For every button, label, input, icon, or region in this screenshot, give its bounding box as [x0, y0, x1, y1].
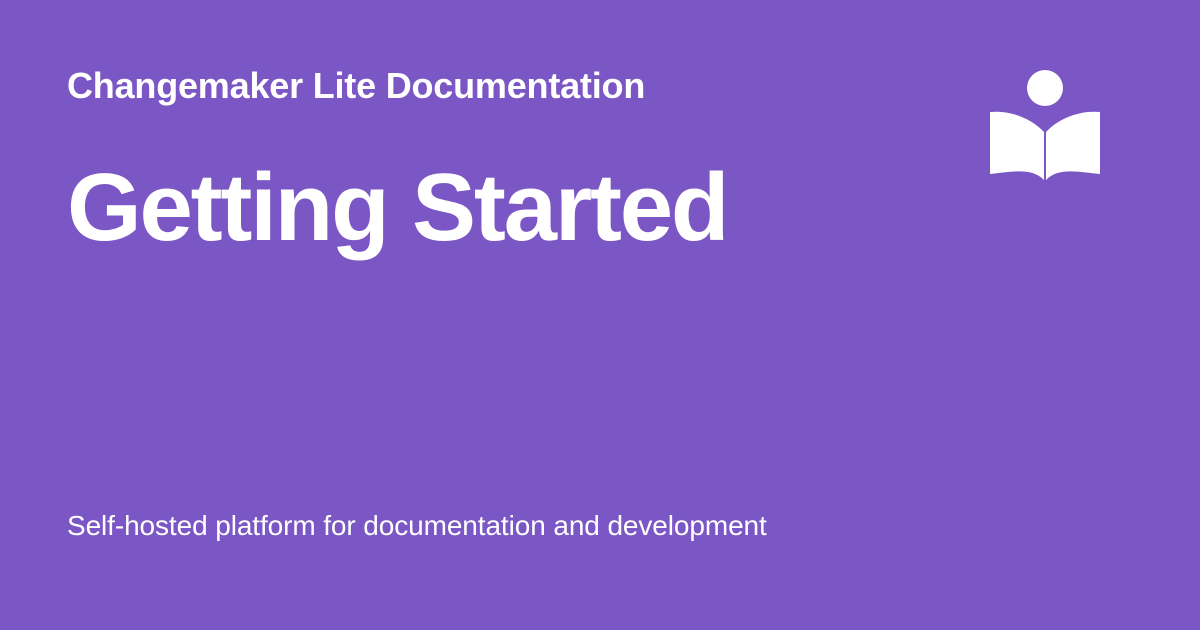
page-tagline: Self-hosted platform for documentation a…: [67, 512, 767, 540]
open-book-reader-icon: [985, 62, 1107, 188]
site-name-eyebrow: Changemaker Lite Documentation: [67, 68, 645, 104]
og-card: Changemaker Lite Documentation Getting S…: [0, 0, 1200, 630]
page-title: Getting Started: [67, 160, 727, 256]
